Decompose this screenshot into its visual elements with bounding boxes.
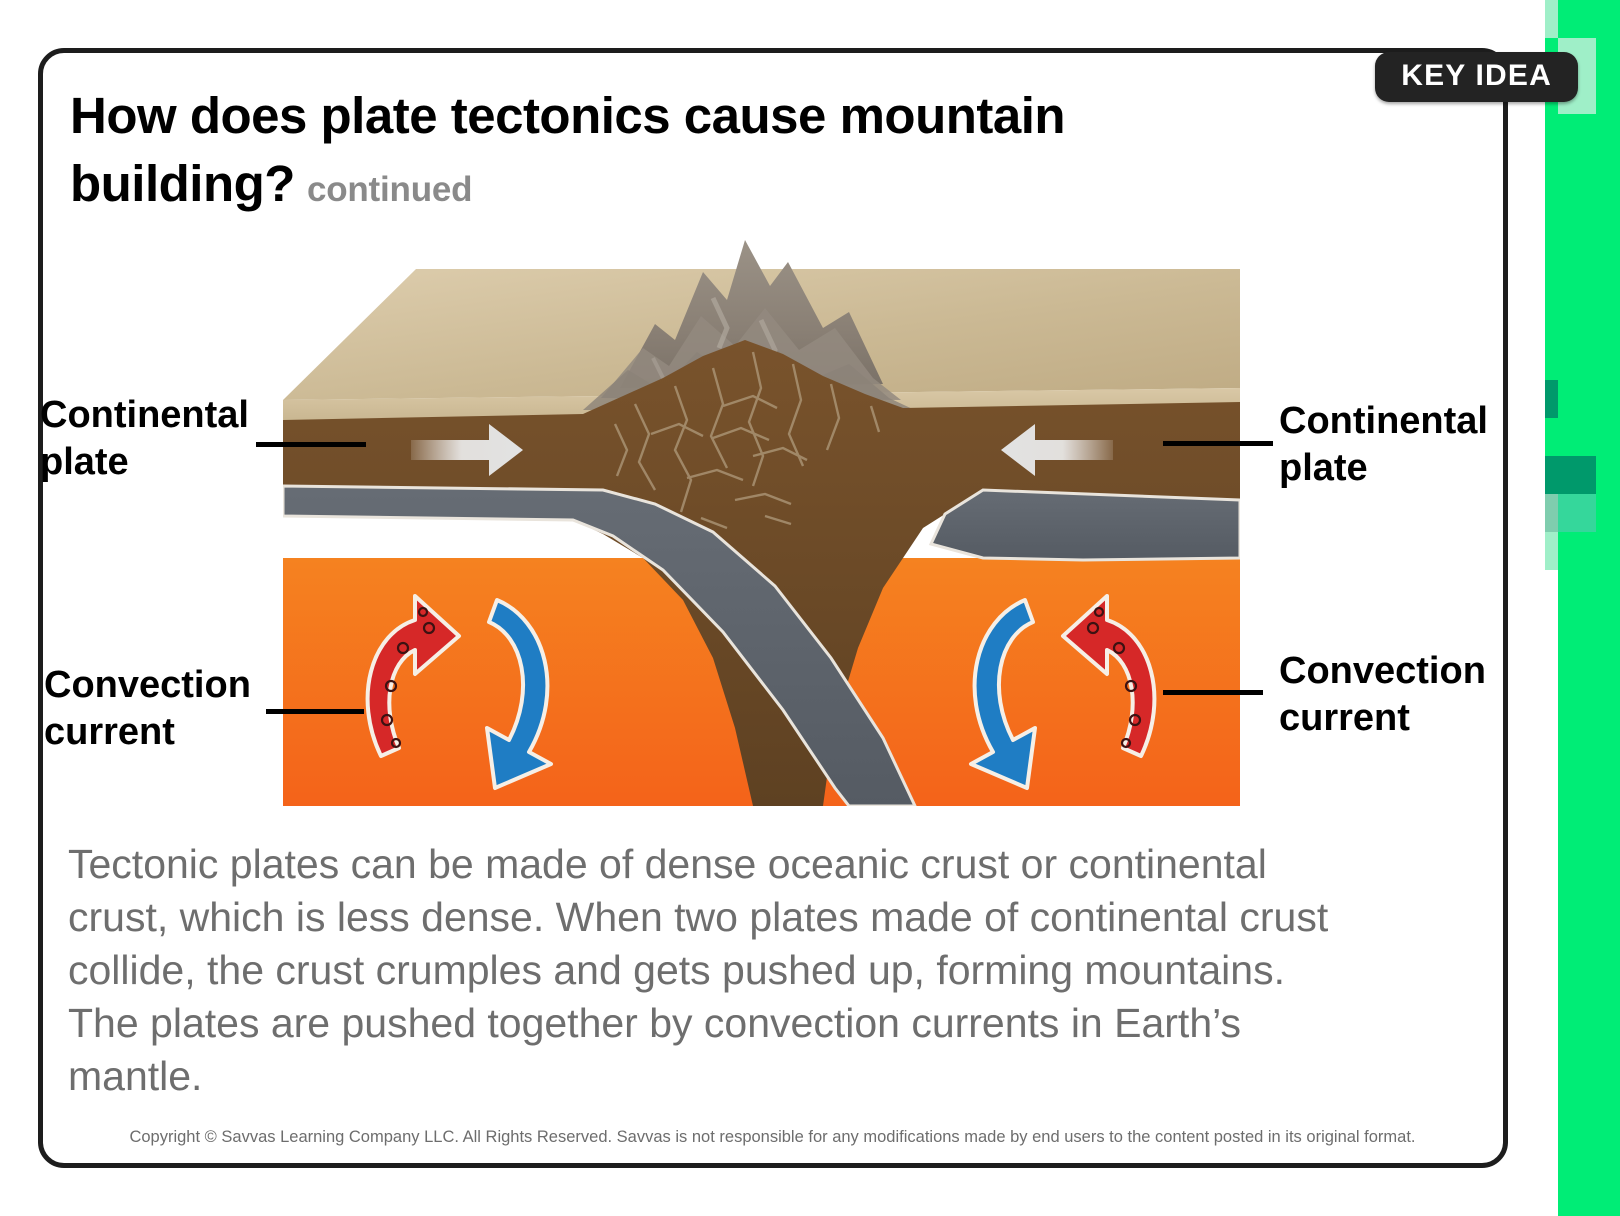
copyright-footer: Copyright © Savvas Learning Company LLC.… — [0, 1128, 1545, 1147]
mosaic-tile — [1558, 342, 1596, 380]
mosaic-tile — [1596, 1064, 1620, 1102]
mosaic-tile — [1558, 0, 1596, 38]
mosaic-tile — [1596, 760, 1620, 798]
label-continental-plate-left: Continental plate — [40, 392, 290, 486]
mosaic-tile — [1558, 608, 1596, 646]
mosaic-tile — [1596, 152, 1620, 190]
mosaic-tile — [1596, 266, 1620, 304]
mosaic-tile — [1596, 722, 1620, 760]
tectonics-cross-section-diagram — [283, 228, 1240, 806]
mosaic-tile — [1596, 304, 1620, 342]
mosaic-tile — [1558, 646, 1596, 684]
mosaic-tile — [1558, 228, 1596, 266]
mosaic-tile — [1596, 494, 1620, 532]
mosaic-tile — [1558, 190, 1596, 228]
mosaic-tile — [1596, 684, 1620, 722]
mosaic-tile — [1558, 152, 1596, 190]
mosaic-tile — [1558, 912, 1596, 950]
mosaic-tile — [1596, 836, 1620, 874]
mosaic-tile — [1596, 912, 1620, 950]
mosaic-tile — [1558, 874, 1596, 912]
mosaic-tile — [1596, 1026, 1620, 1064]
mosaic-tile — [1596, 76, 1620, 114]
mosaic-tile — [1596, 874, 1620, 912]
key-idea-badge: KEY IDEA — [1375, 52, 1578, 102]
label-convection-current-right: Convection current — [1279, 648, 1549, 742]
mosaic-tile — [1596, 0, 1620, 38]
title-main-text: How does plate tectonics cause mountain … — [70, 87, 1065, 212]
leader-line-continental-right — [1163, 441, 1273, 446]
label-convection-current-left: Convection current — [44, 662, 294, 756]
mosaic-tile — [1558, 418, 1596, 456]
mosaic-tile — [1558, 380, 1596, 418]
mosaic-tile — [1558, 684, 1596, 722]
body-paragraph: Tectonic plates can be made of dense oce… — [68, 838, 1358, 1102]
mosaic-tile — [1596, 1178, 1620, 1216]
mosaic-tile — [1596, 1102, 1620, 1140]
mosaic-tile — [1558, 1064, 1596, 1102]
mosaic-tile — [1558, 532, 1596, 570]
mosaic-tile — [1558, 836, 1596, 874]
mosaic-tile — [1558, 988, 1596, 1026]
mosaic-tile — [1596, 418, 1620, 456]
title-continued-text: continued — [307, 170, 472, 209]
mosaic-tile — [1596, 988, 1620, 1026]
mosaic-tile — [1558, 1026, 1596, 1064]
mosaic-tile — [1558, 304, 1596, 342]
mosaic-tile — [1596, 608, 1620, 646]
mosaic-tile — [1596, 190, 1620, 228]
mosaic-tile — [1558, 798, 1596, 836]
mosaic-tile — [1558, 456, 1596, 494]
mosaic-tile — [1596, 342, 1620, 380]
page-title: How does plate tectonics cause mountain … — [70, 82, 1190, 219]
mosaic-tile — [1596, 646, 1620, 684]
mosaic-tile — [1596, 114, 1620, 152]
mosaic-tile — [1558, 114, 1596, 152]
mosaic-tile — [1596, 456, 1620, 494]
mosaic-tile — [1596, 570, 1620, 608]
mosaic-tile — [1558, 1140, 1596, 1178]
label-continental-plate-right: Continental plate — [1279, 398, 1549, 492]
mosaic-tile — [1596, 950, 1620, 988]
mosaic-tile — [1558, 1102, 1596, 1140]
mosaic-tile — [1558, 494, 1596, 532]
leader-line-convection-right — [1163, 690, 1263, 695]
mosaic-tile — [1558, 722, 1596, 760]
mosaic-tile — [1558, 266, 1596, 304]
mosaic-tile — [1596, 532, 1620, 570]
diagram-svg — [283, 228, 1240, 806]
mosaic-tile — [1558, 950, 1596, 988]
mosaic-tile — [1596, 228, 1620, 266]
mosaic-tile — [1596, 380, 1620, 418]
mosaic-tile — [1596, 1140, 1620, 1178]
mosaic-tile — [1596, 38, 1620, 76]
mosaic-tile — [1596, 798, 1620, 836]
mosaic-tile — [1558, 760, 1596, 798]
mosaic-tile — [1558, 570, 1596, 608]
mosaic-tile — [1558, 1178, 1596, 1216]
